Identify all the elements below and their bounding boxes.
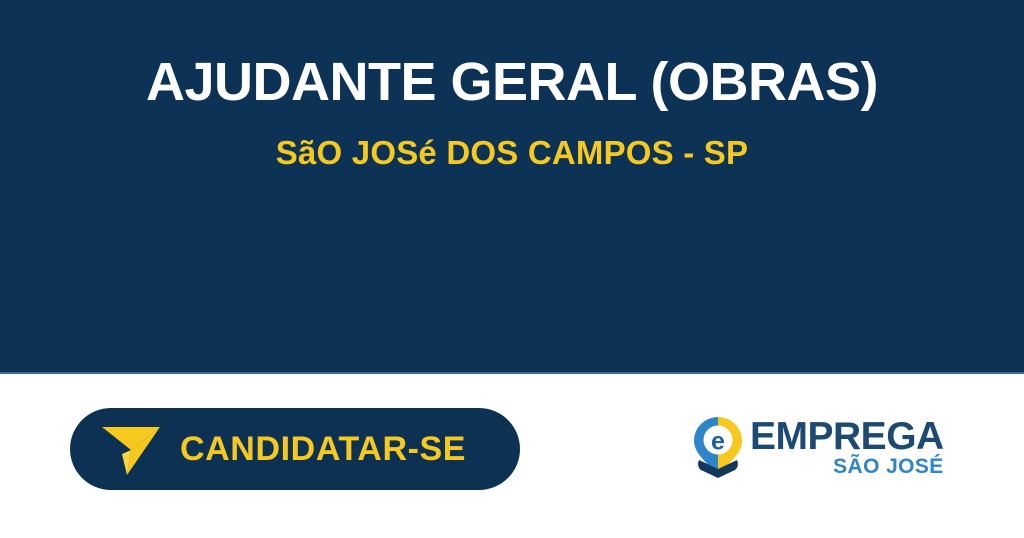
job-location: SãO JOSé DOS CAMPOS - SP (0, 134, 1024, 172)
paper-plane-icon (100, 421, 162, 477)
vacancy-card: AJUDANTE GERAL (OBRAS) SãO JOSé DOS CAMP… (0, 0, 1024, 538)
apply-button[interactable]: CANDIDATAR-SE (70, 408, 520, 490)
footer-bar: CANDIDATAR-SE e EMPREGA SÃO JOS (0, 374, 1024, 538)
brand-name: EMPREGA (750, 418, 944, 455)
apply-button-label: CANDIDATAR-SE (180, 432, 466, 466)
page-title: AJUDANTE GERAL (OBRAS) (0, 52, 1024, 112)
map-pin-e-icon: e (693, 416, 743, 478)
hero-banner: AJUDANTE GERAL (OBRAS) SãO JOSé DOS CAMP… (0, 0, 1024, 374)
brand-wordmark: EMPREGA SÃO JOSÉ (750, 414, 944, 477)
svg-text:e: e (711, 428, 725, 456)
brand-subtitle: SÃO JOSÉ (833, 456, 944, 477)
brand-logo[interactable]: e EMPREGA SÃO JOSÉ (693, 414, 933, 488)
